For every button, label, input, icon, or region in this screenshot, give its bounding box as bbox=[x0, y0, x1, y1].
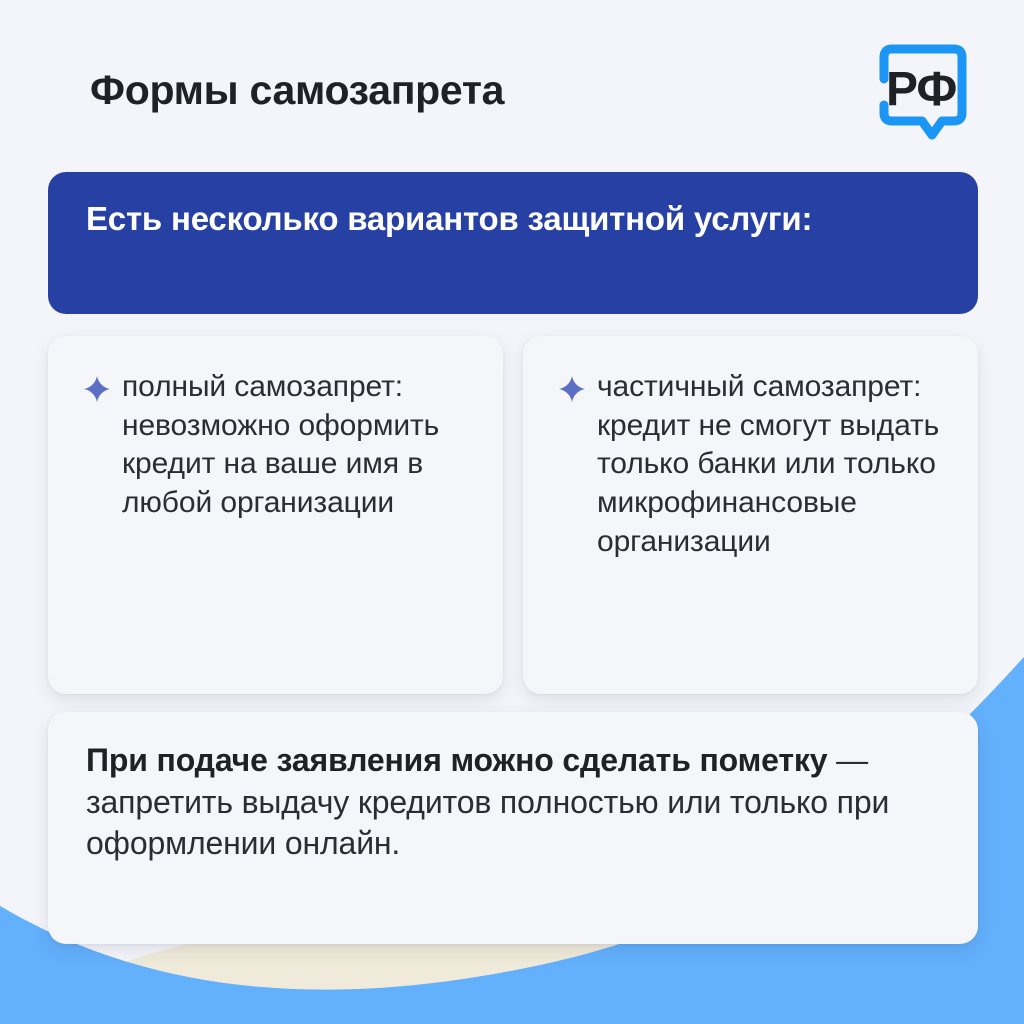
option-card-full-ban: полный самозапрет: невозможно оформить к… bbox=[48, 336, 503, 694]
rf-logo: РФ bbox=[870, 39, 974, 143]
option-card-partial-ban: частичный самозапрет: кредит не смогут в… bbox=[523, 336, 978, 694]
banner: Есть несколько вариантов защитной услуги… bbox=[48, 172, 978, 314]
note-card: При подаче заявления можно сделать помет… bbox=[48, 712, 978, 944]
note-text: При подаче заявления можно сделать помет… bbox=[86, 740, 938, 865]
poster-root: Формы самозапрета РФ Есть несколько вари… bbox=[0, 0, 1024, 1024]
rf-logo-text: РФ bbox=[886, 63, 956, 116]
header: Формы самозапрета РФ bbox=[48, 36, 980, 146]
svg-text:РФ: РФ bbox=[886, 63, 956, 116]
page-title: Формы самозапрета bbox=[48, 68, 504, 113]
option-text: полный самозапрет: невозможно оформить к… bbox=[122, 368, 477, 523]
four-point-star-icon bbox=[559, 374, 585, 404]
option-text: частичный самозапрет: кредит не смогут в… bbox=[597, 368, 952, 561]
note-bold-text: При подаче заявления можно сделать помет… bbox=[86, 742, 827, 778]
options-row: полный самозапрет: невозможно оформить к… bbox=[48, 336, 978, 694]
four-point-star-icon bbox=[84, 374, 110, 404]
banner-text: Есть несколько вариантов защитной услуги… bbox=[86, 198, 940, 240]
